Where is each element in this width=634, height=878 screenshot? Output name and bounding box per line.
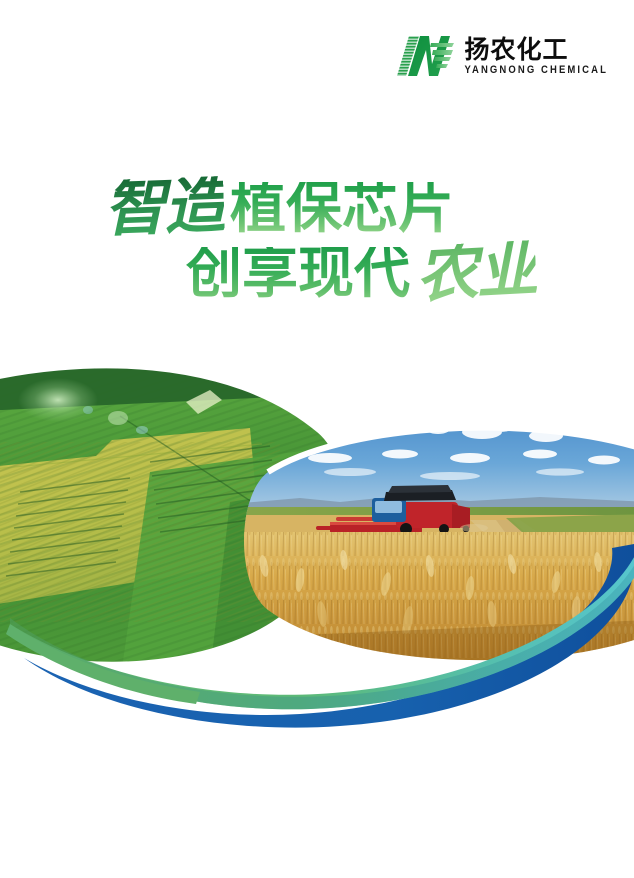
headline-block: 智造 植保芯片 创享现代 农业 [0, 178, 634, 300]
yangnong-n-monogram-icon [395, 34, 455, 78]
company-name-cn: 扬农化工 [464, 37, 608, 62]
brochure-cover-page: 扬农化工 YANGNONG CHEMICAL 智造 植保芯片 创享现代 农业 [0, 0, 634, 878]
company-logo[interactable]: 扬农化工 YANGNONG CHEMICAL [395, 34, 608, 78]
headline-line2-rounded-text: 创享现代 [186, 247, 410, 300]
company-name-en: YANGNONG CHEMICAL [464, 65, 608, 76]
headline-line2-brush-text: 农业 [415, 240, 538, 303]
logo-wordmark: 扬农化工 YANGNONG CHEMICAL [464, 37, 608, 75]
cover-artwork [0, 352, 634, 752]
headline-line-2: 创享现代 农业 [0, 243, 634, 300]
headline-line1-rounded-text: 植保芯片 [230, 182, 454, 235]
headline-line1-brush-text: 智造 [103, 176, 225, 237]
headline-line-1: 智造 植保芯片 [0, 178, 634, 235]
